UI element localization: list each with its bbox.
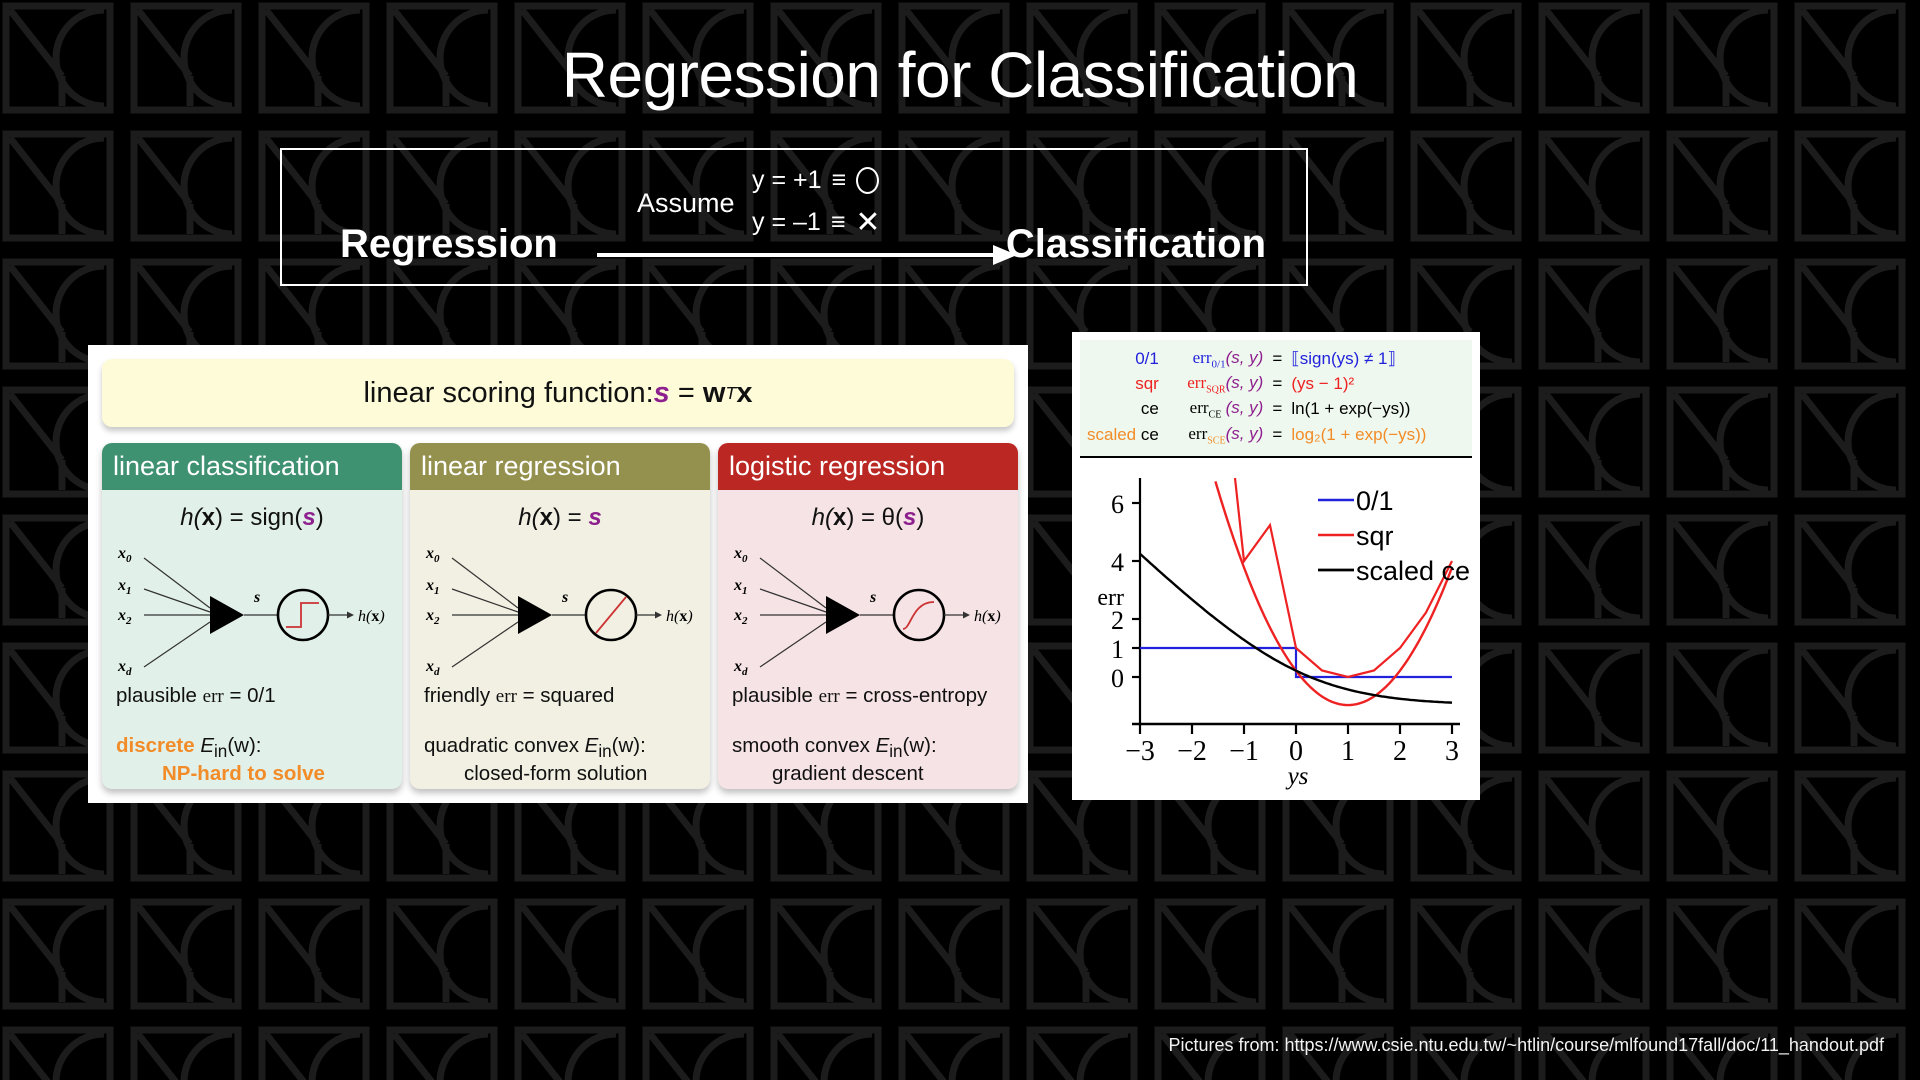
panel-header-logistic-regression: logistic regression <box>718 443 1018 490</box>
scoring-equals: = <box>678 377 695 410</box>
svg-text:s: s <box>561 589 568 606</box>
note-objective-sub: in <box>214 742 227 761</box>
formula-s: s <box>588 504 601 531</box>
formula-x: x <box>833 504 846 531</box>
error-measures-panel: 0/1 err0/1(s, y) = ⟦sign(ys) ≠ 1⟧ sqr er… <box>1072 332 1480 800</box>
note-objective-E: E <box>195 734 214 757</box>
formula-linear-regression: h(x) = s <box>410 504 710 532</box>
err-equals: = <box>1266 346 1288 371</box>
svg-text:x1: x1 <box>117 577 132 597</box>
assume-positive-value: y = +1 <box>752 166 822 194</box>
err-rhs: (ys − 1)² <box>1288 371 1468 396</box>
svg-text:x2: x2 <box>733 607 748 627</box>
note-err-prefix: plausible <box>116 684 203 707</box>
err-sub: SQR <box>1206 384 1225 395</box>
err-sub: SCE <box>1207 435 1225 446</box>
main-content-card: linear scoring function: s = wTx linear … <box>88 345 1028 803</box>
svg-text:x0: x0 <box>733 545 748 565</box>
table-row: scaled ce errSCE(s, y) = log₂(1 + exp(−y… <box>1084 422 1468 447</box>
note-objective-linear-regression: quadratic convex Ein(w): closed-form sol… <box>410 734 710 786</box>
err-symbol: errCE (s, y) <box>1162 397 1267 422</box>
svg-text:x2: x2 <box>425 607 440 627</box>
err-symbol: errSQR(s, y) <box>1162 371 1267 396</box>
note-objective-tail: (w): <box>227 734 261 757</box>
svg-text:−3: −3 <box>1125 736 1155 767</box>
assume-mapping-positive: y = +1≡ <box>752 166 879 195</box>
svg-text:x0: x0 <box>425 545 440 565</box>
scoring-s-symbol: s <box>654 377 670 410</box>
assume-negative-value: y = –1 <box>752 208 821 236</box>
note-err-value: = cross-entropy <box>840 684 988 707</box>
legend-label-0-1: 0/1 <box>1356 486 1394 516</box>
perceptron-diagram-linear-classification: x0 x1 x2 xd s h(x) <box>102 534 402 682</box>
formula-mid: ) = <box>553 504 588 531</box>
svg-text:0: 0 <box>1111 664 1124 693</box>
svg-text:4: 4 <box>1111 548 1124 577</box>
formula-s: s <box>903 504 916 531</box>
table-row: 0/1 err0/1(s, y) = ⟦sign(ys) ≠ 1⟧ <box>1084 346 1468 371</box>
scoring-w-symbol: w <box>703 377 726 410</box>
err-equals: = <box>1266 397 1288 422</box>
panel-header-linear-classification: linear classification <box>102 443 402 490</box>
note-objective-result: NP-hard to solve <box>116 762 388 786</box>
svg-text:h(x): h(x) <box>358 608 385 625</box>
formula-prefix: h( <box>518 504 539 531</box>
scoring-function-box: linear scoring function: s = wTx <box>102 359 1014 427</box>
note-objective-tail: (w): <box>903 734 937 757</box>
svg-text:−1: −1 <box>1229 736 1259 767</box>
err-sub: 0/1 <box>1212 358 1226 370</box>
formula-logistic-regression: h(x) = θ(s) <box>718 504 1018 532</box>
err-rhs: log₂(1 + exp(−ys)) <box>1288 422 1468 447</box>
err-name: ce <box>1084 397 1162 422</box>
note-objective-sub: in <box>598 742 611 761</box>
err-rhs: ⟦sign(ys) ≠ 1⟧ <box>1288 346 1468 371</box>
formula-prefix: h( <box>812 504 833 531</box>
table-row: ce errCE (s, y) = ln(1 + exp(−ys)) <box>1084 397 1468 422</box>
svg-text:3: 3 <box>1445 736 1459 767</box>
scoring-x-symbol: x <box>736 377 752 410</box>
legend-label-scaled-ce: scaled ce <box>1356 556 1470 586</box>
right-arrow-icon <box>597 242 1017 268</box>
svg-text:ys: ys <box>1285 763 1309 790</box>
panel-logistic-regression: logistic regression h(x) = θ(s) x0 x1 x2… <box>718 443 1018 789</box>
svg-text:x0: x0 <box>117 545 132 565</box>
err-args: (s, y) <box>1226 348 1264 367</box>
note-err-word: err <box>819 686 840 707</box>
classification-label: Classification <box>1006 222 1266 267</box>
formula-mid: ) = θ( <box>846 504 903 531</box>
err-equals: = <box>1266 371 1288 396</box>
note-err-prefix: plausible <box>732 684 819 707</box>
cross-symbol-icon: ✕ <box>855 208 880 238</box>
assume-label: Assume <box>637 188 735 219</box>
err-symbol: err0/1(s, y) <box>1162 346 1267 371</box>
assume-box: Regression Classification Assume y = +1≡… <box>280 148 1308 286</box>
equiv-icon: ≡ <box>821 208 856 236</box>
note-err-linear-regression: friendly err = squared <box>410 684 710 708</box>
footer-source: Pictures from: https://www.csie.ntu.edu.… <box>1168 1035 1884 1056</box>
scoring-prefix: linear scoring function: <box>363 377 653 410</box>
note-objective-sub: in <box>889 742 902 761</box>
err-base: err <box>1187 373 1206 392</box>
err-equals: = <box>1266 422 1288 447</box>
svg-text:1: 1 <box>1111 635 1124 664</box>
svg-text:xd: xd <box>117 658 132 678</box>
svg-text:1: 1 <box>1341 736 1355 767</box>
assume-mapping-negative: y = –1≡✕ <box>752 208 881 238</box>
note-objective-linear-classification: discrete Ein(w): NP-hard to solve <box>102 734 402 786</box>
formula-suffix: ) <box>916 504 924 531</box>
perceptron-diagram-linear-regression: x0 x1 x2 xd s h(x) <box>410 534 710 682</box>
svg-text:x1: x1 <box>425 577 440 597</box>
panel-header-linear-regression: linear regression <box>410 443 710 490</box>
err-sub: CE <box>1209 410 1222 421</box>
note-objective-emph: discrete <box>116 734 195 757</box>
formula-prefix: h( <box>180 504 201 531</box>
svg-text:xd: xd <box>425 658 440 678</box>
note-objective-emph: quadratic convex <box>424 734 579 757</box>
err-rhs: ln(1 + exp(−ys)) <box>1288 397 1468 422</box>
panel-linear-classification: linear classification h(x) = sign(s) x0 … <box>102 443 402 789</box>
scoring-transpose: T <box>725 383 736 404</box>
error-formula-table: 0/1 err0/1(s, y) = ⟦sign(ys) ≠ 1⟧ sqr er… <box>1080 340 1472 458</box>
formula-x: x <box>202 504 215 531</box>
err-name: sqr <box>1084 371 1162 396</box>
err-name: scaled ce <box>1084 422 1162 447</box>
err-name: 0/1 <box>1084 346 1162 371</box>
err-base: err <box>1193 348 1212 367</box>
legend-label-sqr: sqr <box>1356 521 1394 551</box>
note-objective-logistic-regression: smooth convex Ein(w): gradient descent <box>718 734 1018 786</box>
svg-text:h(x): h(x) <box>974 608 1001 625</box>
svg-text:err: err <box>1097 585 1124 611</box>
err-args: (s, y) <box>1226 424 1264 443</box>
note-err-word: err <box>496 686 517 707</box>
circle-symbol-icon <box>856 167 879 194</box>
err-base: err <box>1190 398 1209 417</box>
formula-linear-classification: h(x) = sign(s) <box>102 504 402 532</box>
err-args: (s, y) <box>1226 398 1264 417</box>
note-err-linear-classification: plausible err = 0/1 <box>102 684 402 708</box>
panel-linear-regression: linear regression h(x) = s x0 x1 x2 xd s <box>410 443 710 789</box>
note-err-logistic-regression: plausible err = cross-entropy <box>718 684 1018 708</box>
error-curves-chart: 6 4 2 1 0 err −3 −2 −1 0 1 2 3 ys <box>1080 462 1472 792</box>
note-objective-emph: smooth convex <box>732 734 870 757</box>
err-args: (s, y) <box>1226 373 1264 392</box>
note-objective-result: closed-form solution <box>424 762 696 786</box>
note-err-prefix: friendly <box>424 684 496 707</box>
svg-text:x2: x2 <box>117 607 132 627</box>
svg-text:−2: −2 <box>1177 736 1207 767</box>
formula-mid: ) = sign( <box>215 504 302 531</box>
table-row: sqr errSQR(s, y) = (ys − 1)² <box>1084 371 1468 396</box>
svg-text:6: 6 <box>1111 490 1124 519</box>
formula-s: s <box>302 504 315 531</box>
err-base: err <box>1188 424 1207 443</box>
perceptron-diagram-logistic-regression: x0 x1 x2 xd s h(x) <box>718 534 1018 682</box>
formula-suffix: ) <box>316 504 324 531</box>
svg-text:x1: x1 <box>733 577 748 597</box>
note-objective-tail: (w): <box>612 734 646 757</box>
page-title: Regression for Classification <box>0 38 1920 112</box>
svg-text:2: 2 <box>1393 736 1407 767</box>
note-objective-result: gradient descent <box>732 762 1004 786</box>
svg-text:s: s <box>253 589 260 606</box>
note-err-value: = squared <box>517 684 614 707</box>
svg-text:s: s <box>869 589 876 606</box>
svg-text:h(x): h(x) <box>666 608 693 625</box>
note-objective-E: E <box>870 734 889 757</box>
err-symbol: errSCE(s, y) <box>1162 422 1267 447</box>
note-err-word: err <box>203 686 224 707</box>
note-objective-E: E <box>579 734 598 757</box>
svg-text:xd: xd <box>733 658 748 678</box>
equiv-icon: ≡ <box>822 166 857 194</box>
regression-label: Regression <box>340 222 558 267</box>
note-err-value: = 0/1 <box>224 684 276 707</box>
formula-x: x <box>540 504 553 531</box>
